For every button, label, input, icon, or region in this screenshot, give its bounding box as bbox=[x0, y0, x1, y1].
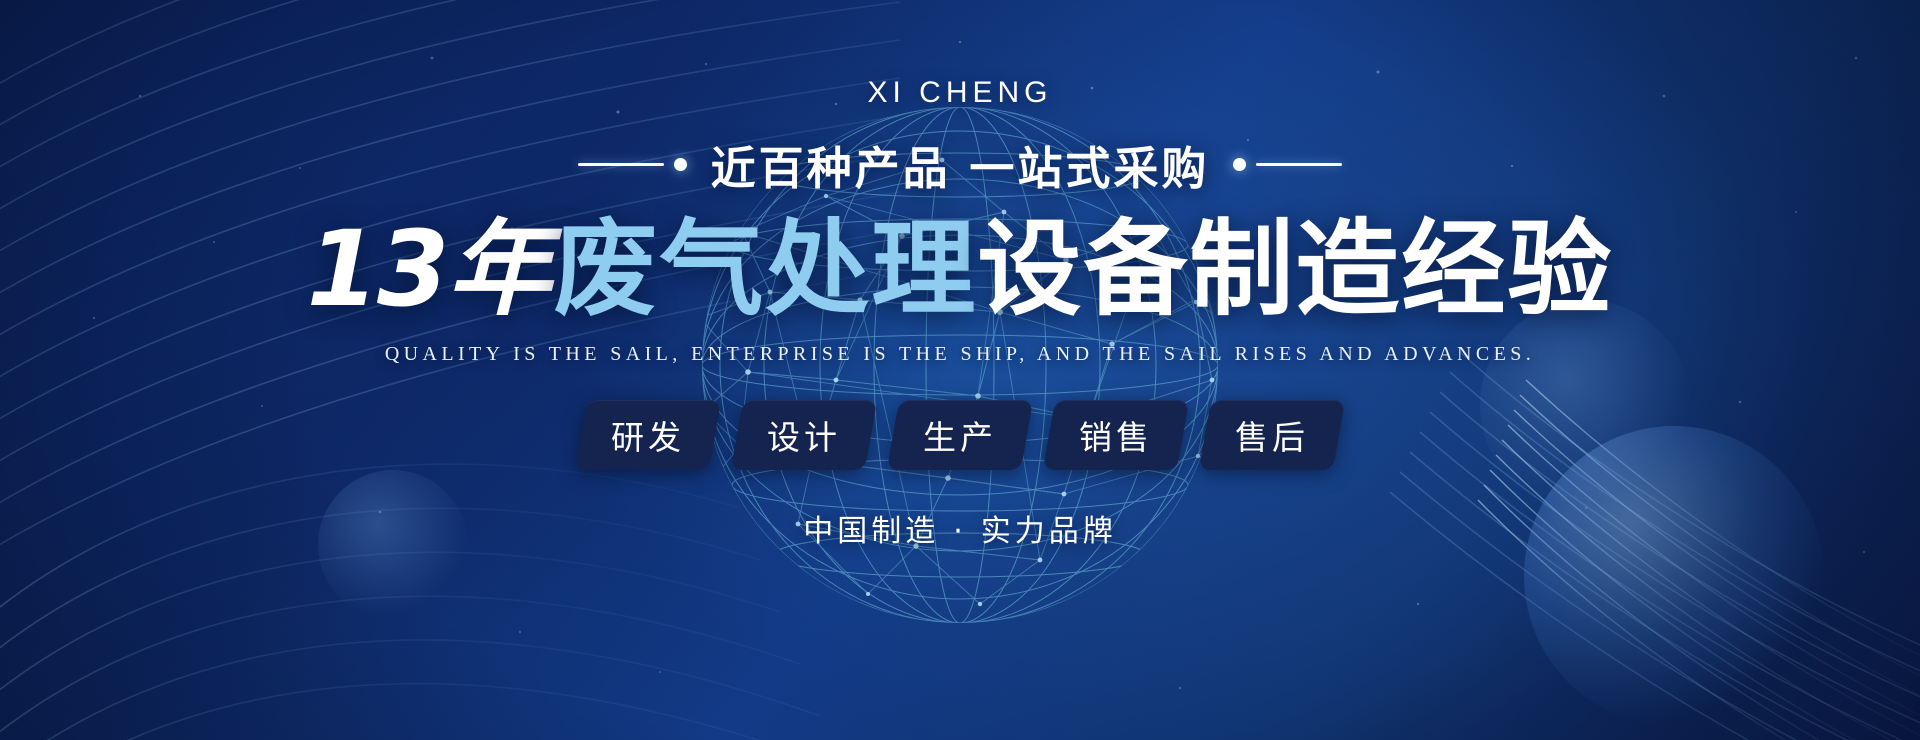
footer-separator-dot: · bbox=[939, 514, 981, 549]
service-pill-label: 设计 bbox=[767, 411, 841, 459]
service-pill-label: 生产 bbox=[923, 411, 997, 459]
service-pill-rd[interactable]: 研发 bbox=[575, 400, 721, 470]
service-pill-label: 销售 bbox=[1079, 411, 1153, 459]
ornament-bar bbox=[1256, 163, 1342, 166]
subheadline-row: 近百种产品 一站式采购 bbox=[578, 132, 1343, 197]
subheadline: 近百种产品 一站式采购 bbox=[711, 132, 1210, 197]
line-dot-ornament-left bbox=[578, 158, 687, 171]
service-pill-label: 研发 bbox=[611, 411, 685, 459]
headline-years: 13年 bbox=[307, 208, 554, 330]
footer-slogan-left: 中国制造 bbox=[803, 514, 939, 549]
service-pill-design[interactable]: 设计 bbox=[731, 400, 877, 470]
brand-name-en: XI CHENG bbox=[867, 76, 1052, 110]
english-tagline: QUALITY IS THE SAIL, ENTERPRISE IS THE S… bbox=[385, 343, 1535, 366]
service-pill-group: 研发 设计 生产 销售 售后 bbox=[581, 400, 1339, 470]
hero-banner: XI CHENG 近百种产品 一站式采购 13年废气处理设备制造经验 QUALI… bbox=[0, 0, 1920, 740]
ornament-dot bbox=[674, 158, 687, 171]
ornament-dot bbox=[1233, 158, 1246, 171]
ornament-bar bbox=[578, 163, 664, 166]
banner-content: XI CHENG 近百种产品 一站式采购 13年废气处理设备制造经验 QUALI… bbox=[0, 0, 1920, 740]
service-pill-sales[interactable]: 销售 bbox=[1043, 400, 1189, 470]
headline-accent: 废气处理 bbox=[553, 208, 977, 330]
service-pill-production[interactable]: 生产 bbox=[887, 400, 1033, 470]
headline-tail: 设备制造经验 bbox=[977, 208, 1613, 330]
footer-slogan: 中国制造·实力品牌 bbox=[803, 506, 1117, 550]
dot-line-ornament-right bbox=[1233, 158, 1342, 171]
footer-slogan-right: 实力品牌 bbox=[981, 514, 1117, 549]
service-pill-label: 售后 bbox=[1235, 411, 1309, 459]
service-pill-aftersales[interactable]: 售后 bbox=[1199, 400, 1345, 470]
main-headline: 13年废气处理设备制造经验 bbox=[307, 211, 1614, 327]
